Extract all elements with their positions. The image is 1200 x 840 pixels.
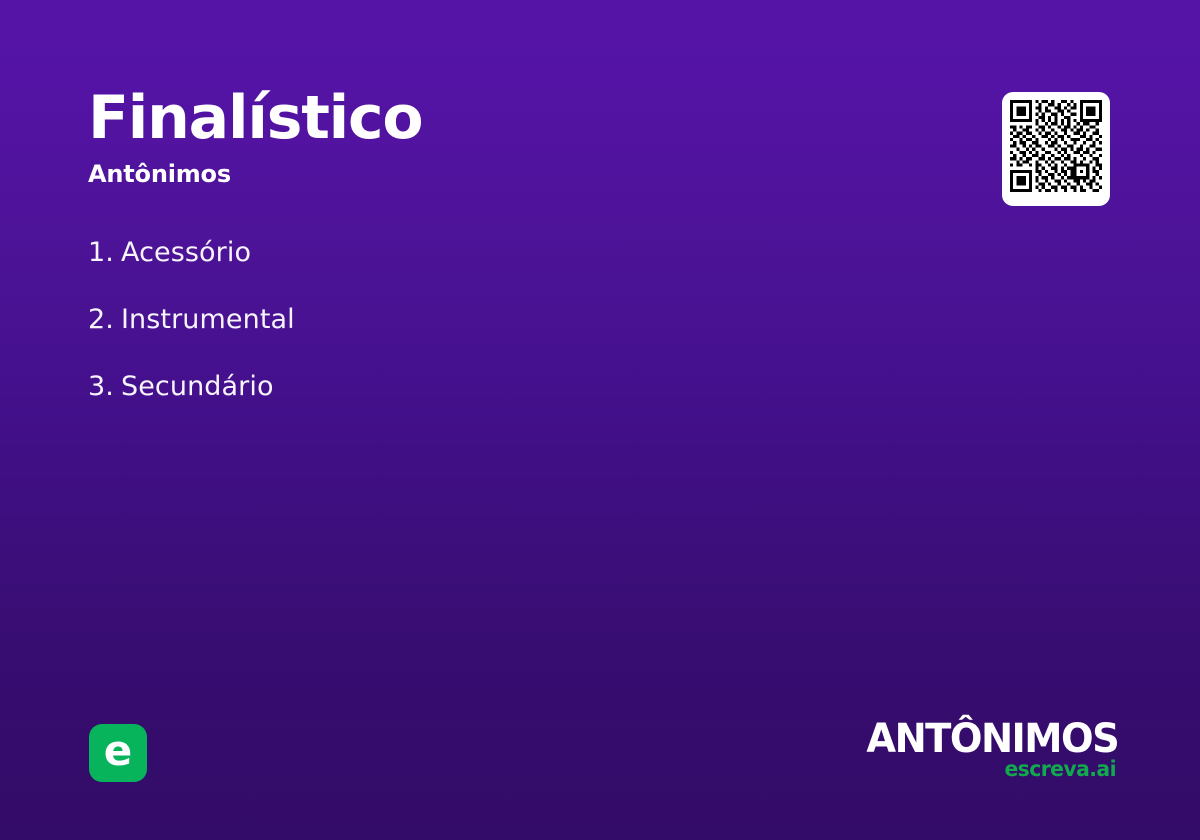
brand-domain: escreva.ai (864, 758, 1116, 780)
list-item-word: Secundário (121, 371, 274, 402)
qr-code-container[interactable] (1002, 92, 1110, 206)
list-item: 3.Secundário (88, 370, 848, 404)
list-item-index: 1. (88, 237, 114, 268)
list-item-index: 3. (88, 371, 114, 402)
app-badge[interactable]: e (89, 724, 147, 782)
antonym-list: 1.Acessório 2.Instrumental 3.Secundário (88, 236, 848, 404)
qr-code-icon (1010, 100, 1102, 192)
page-title: Finalístico (88, 86, 848, 150)
antonyms-word-card: Finalístico Antônimos 1.Acessório 2.Inst… (0, 0, 1200, 840)
list-item-index: 2. (88, 304, 114, 335)
list-item-word: Instrumental (121, 304, 295, 335)
brand-name: ANTÔNIMOS (866, 718, 1116, 760)
list-item: 2.Instrumental (88, 303, 848, 337)
list-item: 1.Acessório (88, 236, 848, 270)
app-badge-letter: e (104, 730, 133, 772)
page-subtitle: Antônimos (88, 160, 848, 188)
header: Finalístico Antônimos (88, 86, 848, 188)
list-item-word: Acessório (121, 237, 251, 268)
brand-logo: ANTÔNIMOS escreva.ai (856, 718, 1116, 780)
